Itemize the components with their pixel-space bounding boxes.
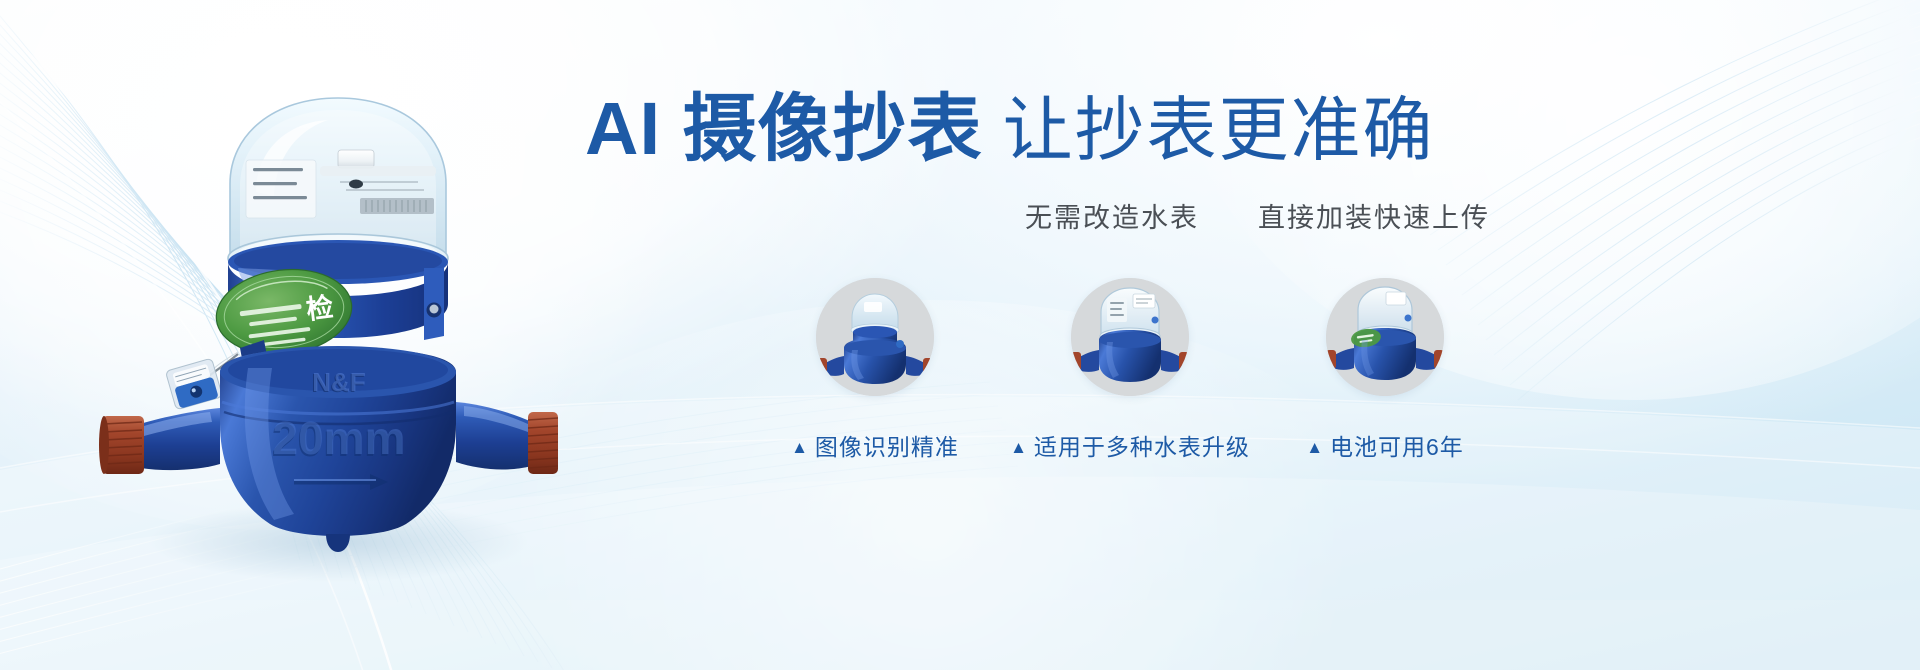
ai-camera-meter-banner: 检: [0, 0, 1920, 670]
feature-label: 电池可用6年: [1330, 434, 1464, 460]
triangle-marker-icon: ▲: [1010, 438, 1028, 457]
water-meter-thumbnail-1-icon: [816, 278, 934, 396]
triangle-marker-icon: ▲: [1306, 438, 1324, 457]
subtitle-part-2: 直接加装快速上传: [1258, 203, 1490, 233]
headline-strong: AI 摄像抄表: [585, 87, 983, 170]
feature-list: ▲图像识别精准: [760, 278, 1500, 462]
feature-caption: ▲适用于多种水表升级: [1010, 428, 1250, 462]
feature-item[interactable]: ▲适用于多种水表升级: [1015, 278, 1245, 462]
sticker-glyph: 检: [305, 291, 336, 326]
svg-text:20mm: 20mm: [273, 412, 406, 464]
water-meter-thumbnail-2-icon: [1071, 278, 1189, 396]
water-meter-thumbnail-3-icon: [1326, 278, 1444, 396]
feature-label: 适用于多种水表升级: [1034, 434, 1250, 460]
feature-caption: ▲图像识别精准: [791, 428, 959, 462]
feature-item[interactable]: ▲电池可用6年: [1270, 278, 1500, 462]
product-photo-water-meter: 检: [88, 72, 558, 602]
triangle-marker-icon: ▲: [791, 438, 809, 457]
svg-text:N&F: N&F: [312, 367, 365, 397]
feature-item[interactable]: ▲图像识别精准: [760, 278, 990, 462]
page-title: AI 摄像抄表让抄表更准确: [585, 92, 1490, 166]
feature-caption: ▲电池可用6年: [1306, 428, 1464, 462]
copy-block: AI 摄像抄表让抄表更准确 无需改造水表 直接加装快速上传: [585, 92, 1490, 235]
subtitle: 无需改造水表 直接加装快速上传: [585, 196, 1490, 235]
subtitle-part-1: 无需改造水表: [1025, 203, 1199, 233]
feature-label: 图像识别精准: [815, 434, 959, 460]
headline-light: 让抄表更准确: [1003, 91, 1435, 169]
